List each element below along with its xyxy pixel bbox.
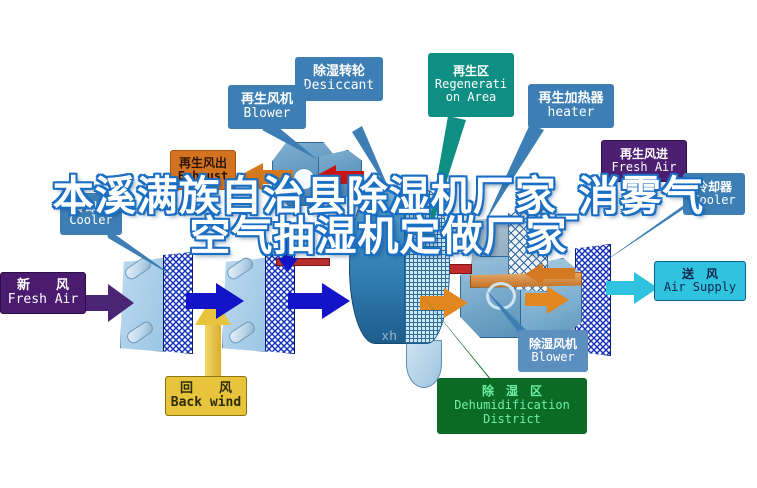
label-air-supply-en: Air Supply bbox=[664, 281, 736, 294]
label-regen-fresh-air-en: Fresh Air bbox=[611, 161, 676, 174]
label-regen-blower-cn: 再生风机 bbox=[241, 93, 293, 107]
label-cooler-right-en: Cooler bbox=[692, 194, 735, 207]
label-regen-fresh-air[interactable]: 再生风进 Fresh Air bbox=[601, 140, 687, 182]
dehumidifier-diagram: 除湿转轮 Desiccant 再生风机 Blower 再生区 Regenerat… bbox=[0, 0, 757, 488]
label-regen-blower-en: Blower bbox=[244, 107, 291, 121]
label-dehum-blower-en: Blower bbox=[531, 351, 574, 364]
label-fresh-air-in[interactable]: 新 风 Fresh Air bbox=[0, 272, 86, 314]
label-regen-heater[interactable]: 再生加热器 heater bbox=[528, 84, 614, 128]
label-back-wind[interactable]: 回 风 Back wind bbox=[165, 376, 247, 416]
label-fresh-air-in-en: Fresh Air bbox=[8, 293, 78, 307]
label-regen-exhaust-en: Exhaust bbox=[178, 170, 229, 183]
label-regen-heater-cn: 再生加热器 bbox=[538, 92, 603, 106]
label-air-supply[interactable]: 送 风 Air Supply bbox=[654, 261, 746, 301]
label-regen-exhaust[interactable]: 再生风出 Exhaust bbox=[170, 150, 236, 190]
label-back-wind-en: Back wind bbox=[171, 396, 241, 410]
label-desiccant-rotor-cn: 除湿转轮 bbox=[313, 65, 365, 79]
label-dehum-district-cn: 除 湿 区 bbox=[482, 385, 542, 398]
label-back-wind-cn: 回 风 bbox=[180, 382, 232, 396]
label-cooler-left-en: Cooler bbox=[69, 214, 112, 227]
label-fresh-air-in-cn: 新 风 bbox=[17, 279, 69, 293]
label-regen-area-en: Regenerati on Area bbox=[435, 78, 507, 106]
label-dehum-district-en: Dehumidification District bbox=[454, 398, 570, 427]
label-dehum-blower[interactable]: 除湿风机 Blower bbox=[518, 330, 588, 372]
label-regen-area-cn: 再生区 bbox=[453, 65, 489, 78]
label-regen-blower[interactable]: 再生风机 Blower bbox=[228, 85, 306, 129]
label-regen-area[interactable]: 再生区 Regenerati on Area bbox=[428, 53, 514, 117]
label-regen-heater-en: heater bbox=[548, 106, 595, 120]
label-dehum-district[interactable]: 除 湿 区 Dehumidification District bbox=[437, 378, 587, 434]
label-desiccant-rotor[interactable]: 除湿转轮 Desiccant bbox=[295, 57, 383, 101]
label-cooler-right[interactable]: 冷却器 Cooler bbox=[683, 173, 745, 215]
label-cooler-left[interactable]: 冷却器 Cooler bbox=[60, 193, 122, 235]
label-desiccant-rotor-en: Desiccant bbox=[304, 79, 374, 93]
